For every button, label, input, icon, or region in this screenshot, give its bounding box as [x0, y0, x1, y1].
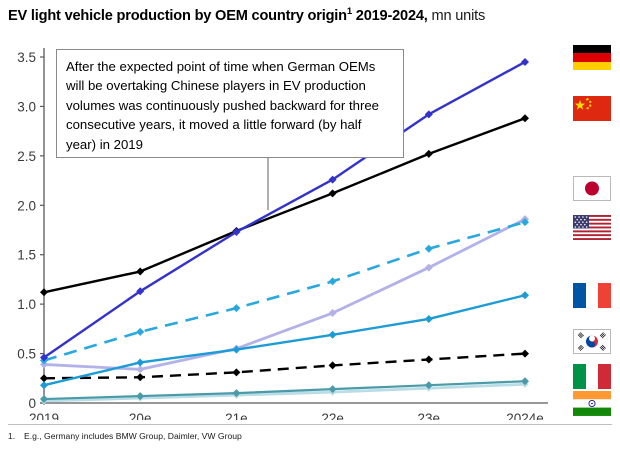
series-marker-japan	[232, 304, 240, 312]
y-tick-label: 2.5	[17, 149, 36, 164]
series-marker-germany	[40, 288, 48, 296]
footnote: 1.E.g., Germany includes BMW Group, Daim…	[8, 431, 242, 441]
series-marker-germany	[425, 150, 433, 158]
y-tick-label: 0	[28, 396, 36, 411]
title-units: mn units	[428, 8, 485, 24]
series-marker-south-korea	[521, 350, 529, 358]
china-flag	[573, 96, 611, 121]
series-marker-france	[329, 331, 337, 339]
series-marker-south-korea	[40, 374, 48, 382]
title-years: 2019-2024,	[352, 8, 428, 24]
y-tick-label: 3.0	[17, 99, 36, 114]
series-marker-france	[425, 315, 433, 323]
series-marker-south-korea	[425, 356, 433, 364]
series-marker-south-korea	[232, 368, 240, 376]
series-marker-united-states	[136, 365, 144, 373]
footnote-number: 1.	[8, 431, 24, 441]
series-line-south-korea	[44, 354, 525, 379]
title-main: EV light vehicle production by OEM count…	[8, 8, 347, 24]
series-marker-france	[136, 358, 144, 366]
y-tick-label: 1.5	[17, 248, 36, 263]
series-marker-japan	[329, 277, 337, 285]
page-title: EV light vehicle production by OEM count…	[8, 6, 612, 24]
series-marker-germany	[329, 189, 337, 197]
annotation-callout-box: After the expected point of time when Ge…	[56, 49, 404, 158]
japan-flag	[573, 176, 611, 201]
x-tick-label: 2024e	[506, 411, 544, 420]
annotation-text: After the expected point of time when Ge…	[66, 59, 379, 152]
footnote-text: E.g., Germany includes BMW Group, Daimle…	[24, 431, 242, 441]
italy-flag	[573, 364, 611, 389]
india-flag	[573, 391, 611, 416]
series-line-italy	[44, 381, 525, 399]
france-flag	[573, 283, 611, 308]
south-korea-flag	[573, 329, 611, 354]
series-marker-south-korea	[136, 373, 144, 381]
footnote-divider	[8, 424, 612, 425]
x-tick-label: 22e	[321, 411, 344, 420]
y-tick-label: 0.5	[17, 347, 36, 362]
x-tick-label: 23e	[418, 411, 441, 420]
series-line-japan	[44, 222, 525, 360]
series-marker-south-korea	[329, 361, 337, 369]
y-tick-label: 1.0	[17, 297, 36, 312]
series-marker-japan	[425, 245, 433, 253]
flag-legend	[573, 0, 620, 455]
series-marker-france	[40, 381, 48, 389]
chart-page: EV light vehicle production by OEM count…	[0, 0, 620, 455]
series-marker-france	[521, 291, 529, 299]
series-line-india	[44, 384, 525, 401]
germany-flag	[573, 45, 611, 70]
x-tick-label: 2019	[29, 411, 59, 420]
x-tick-label: 20e	[129, 411, 152, 420]
series-marker-japan	[136, 328, 144, 336]
series-marker-germany	[521, 114, 529, 122]
y-tick-label: 3.5	[17, 50, 36, 65]
y-tick-label: 2.0	[17, 198, 36, 213]
series-marker-germany	[136, 268, 144, 276]
usa-flag	[573, 215, 611, 240]
x-tick-label: 21e	[225, 411, 248, 420]
